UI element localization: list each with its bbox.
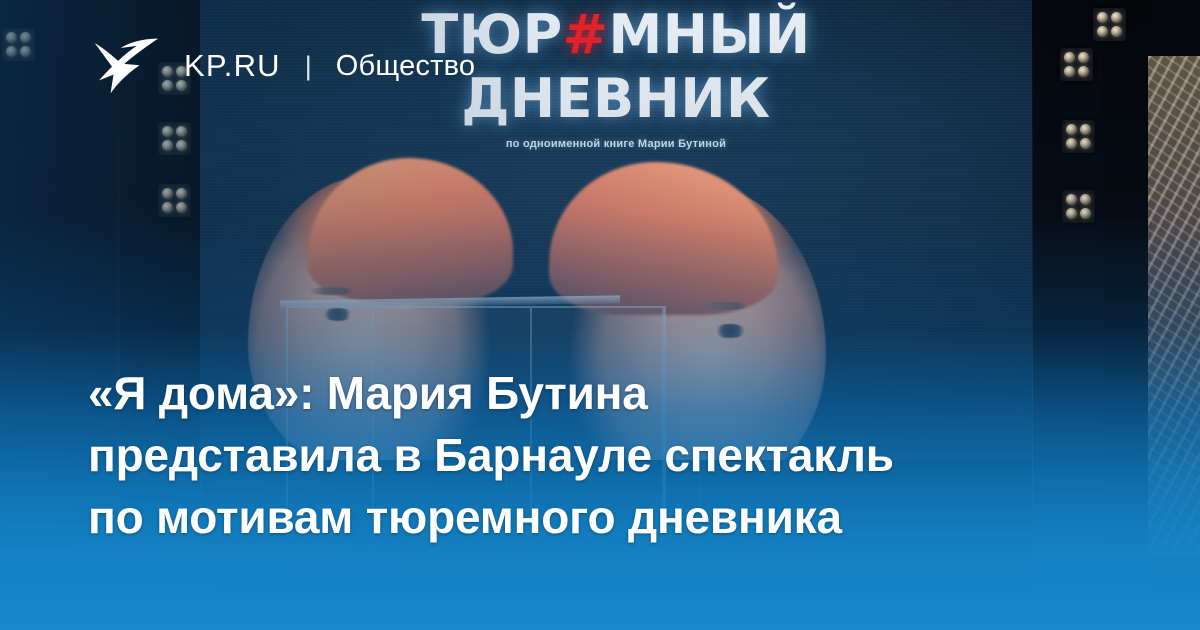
- rubric-label[interactable]: Общество: [336, 50, 475, 83]
- card-header: KP.RU | Общество: [88, 30, 475, 102]
- headline-line-2: представила в Барнауле спектакль: [88, 424, 1118, 486]
- headline-line-1: «Я дома»: Мария Бутина: [88, 362, 1118, 424]
- brand-label[interactable]: KP.RU: [184, 48, 281, 84]
- social-share-card: ТЮР#МНЫЙ ДНЕВНИК по одноименной книге Ма…: [0, 0, 1200, 630]
- article-headline: «Я дома»: Мария Бутина представила в Бар…: [88, 362, 1118, 548]
- header-divider: |: [305, 51, 312, 82]
- headline-line-3: по мотивам тюремного дневника: [88, 486, 1118, 548]
- kp-swallow-bird-logo-icon[interactable]: [88, 30, 162, 102]
